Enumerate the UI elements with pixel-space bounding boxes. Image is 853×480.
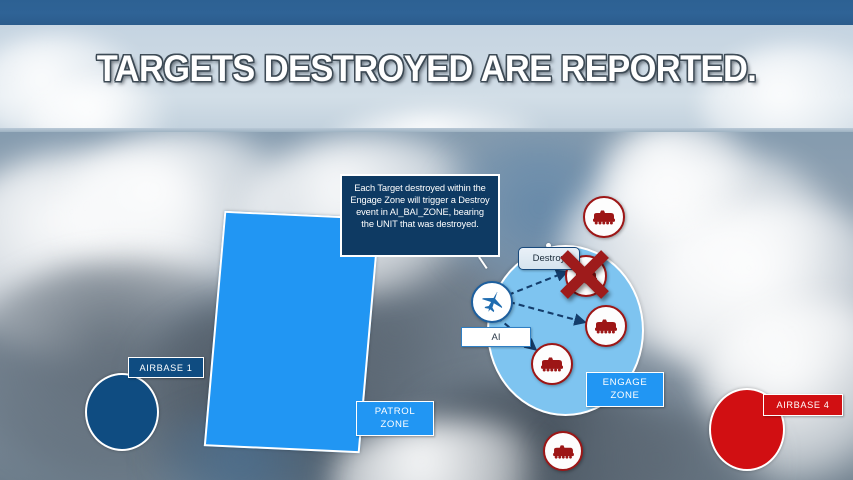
engage-zone-label-line2: ZONE (610, 390, 639, 402)
cloud-shape (330, 110, 570, 128)
ai-aircraft-marker[interactable] (471, 281, 513, 323)
target-marker-east[interactable] (585, 305, 627, 347)
slide-canvas: TARGETS DESTROYED ARE REPORTED. (0, 0, 853, 480)
ground-vehicle-icon (593, 317, 619, 335)
patrol-zone-label[interactable]: PATROL ZONE (356, 401, 434, 436)
engage-zone-destroy-note: Each Target destroyed within the Engage … (340, 174, 500, 257)
patrol-zone-label-line2: ZONE (380, 419, 409, 431)
destroy-event-callout[interactable]: Destroy (518, 247, 580, 270)
ground-vehicle-icon (591, 208, 617, 226)
ground-vehicle-icon (539, 355, 565, 373)
airbase-4-label[interactable]: AIRBASE 4 (763, 394, 843, 416)
title-band-divider (0, 128, 853, 132)
airbase-1-marker[interactable] (85, 373, 159, 451)
ai-unit-label[interactable]: AI (461, 327, 531, 347)
fighter-jet-icon (479, 290, 506, 315)
engage-zone-label-line1: ENGAGE (603, 377, 648, 389)
ground-vehicle-icon (573, 267, 599, 285)
airbase-1-label[interactable]: AIRBASE 1 (128, 357, 204, 378)
engage-zone-label[interactable]: ENGAGE ZONE (586, 372, 664, 407)
ground-vehicle-icon (551, 443, 576, 460)
target-marker-southwest[interactable] (531, 343, 573, 385)
top-accent-bar (0, 0, 853, 25)
page-title: TARGETS DESTROYED ARE REPORTED. (30, 48, 823, 90)
patrol-zone-label-line1: PATROL (375, 406, 416, 418)
target-marker-north[interactable] (583, 196, 625, 238)
target-marker-south[interactable] (543, 431, 583, 471)
